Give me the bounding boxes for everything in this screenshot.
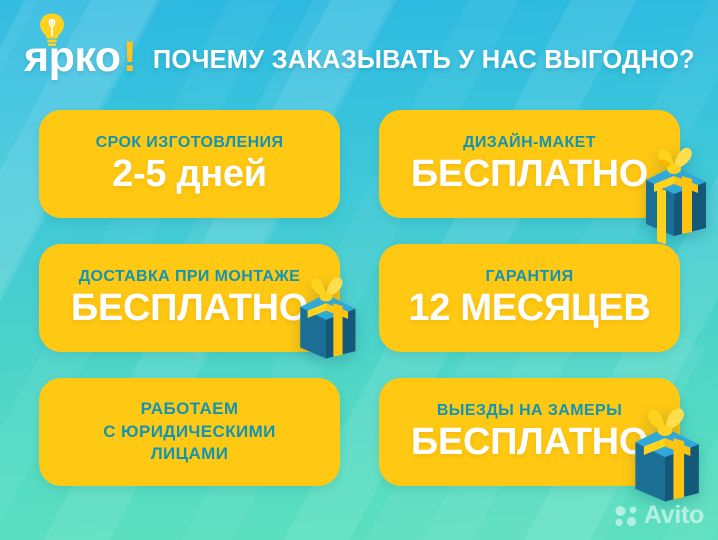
- gift-bow: [648, 408, 684, 436]
- benefit-card-subtitle: ДИЗАЙН-МАКЕТ: [463, 134, 596, 153]
- benefit-card-subtitle: СРОК ИЗГОТОВЛЕНИЯ: [96, 134, 284, 153]
- benefit-card-subtitle-line3: ЛИЦАМИ: [151, 443, 229, 465]
- benefit-card-delivery-with-installation[interactable]: ДОСТАВКА ПРИ МОНТАЖЕ БЕСПЛАТНО: [39, 244, 340, 352]
- page-title: ПОЧЕМУ ЗАКАЗЫВАТЬ У НАС ВЫГОДНО?: [153, 46, 695, 78]
- benefit-card-subtitle: ГАРАНТИЯ: [486, 268, 574, 287]
- brand-exclamation: !: [123, 38, 137, 78]
- benefit-card-warranty[interactable]: ГАРАНТИЯ 12 МЕСЯЦЕВ: [379, 244, 680, 352]
- benefit-card-measurement-visit[interactable]: ВЫЕЗДЫ НА ЗАМЕРЫ БЕСПЛАТНО: [379, 378, 680, 486]
- benefit-card-value: БЕСПЛАТНО: [71, 289, 308, 328]
- poster-header: ярко ! ПОЧЕМУ ЗАКАЗЫВАТЬ У НАС ВЫГОДНО?: [22, 22, 704, 78]
- benefit-card-value: БЕСПЛАТНО: [411, 155, 648, 194]
- benefits-grid: СРОК ИЗГОТОВЛЕНИЯ 2-5 дней ДИЗАЙН-МАКЕТ …: [39, 110, 680, 486]
- brand-logo: ярко !: [22, 38, 137, 78]
- avito-label: Avito: [644, 501, 704, 530]
- benefit-card-value: 12 МЕСЯЦЕВ: [408, 289, 650, 328]
- lightbulb-icon: [36, 12, 68, 50]
- promo-poster: ярко ! ПОЧЕМУ ЗАКАЗЫВАТЬ У НАС ВЫГОДНО? …: [0, 0, 718, 540]
- benefit-card-value: 2-5 дней: [112, 155, 267, 194]
- avito-watermark: Avito: [614, 501, 704, 530]
- benefit-card-production-time[interactable]: СРОК ИЗГОТОВЛЕНИЯ 2-5 дней: [39, 110, 340, 218]
- gift-bow: [658, 148, 692, 174]
- avito-dots-icon: [614, 505, 640, 527]
- benefit-card-subtitle: РАБОТАЕМ: [141, 398, 239, 420]
- gift-bow: [311, 277, 342, 301]
- benefit-card-subtitle: ДОСТАВКА ПРИ МОНТАЖЕ: [79, 268, 301, 287]
- benefit-card-design-mockup[interactable]: ДИЗАЙН-МАКЕТ БЕСПЛАТНО: [379, 110, 680, 218]
- benefit-card-subtitle: ВЫЕЗДЫ НА ЗАМЕРЫ: [437, 402, 622, 421]
- benefit-card-legal-entities[interactable]: РАБОТАЕМ С ЮРИДИЧЕСКИМИ ЛИЦАМИ: [39, 378, 340, 486]
- benefit-card-subtitle-line2: С ЮРИДИЧЕСКИМИ: [103, 421, 276, 443]
- benefit-card-subtitle-block: РАБОТАЕМ С ЮРИДИЧЕСКИМИ ЛИЦАМИ: [103, 398, 276, 465]
- benefit-card-value: БЕСПЛАТНО: [411, 423, 648, 462]
